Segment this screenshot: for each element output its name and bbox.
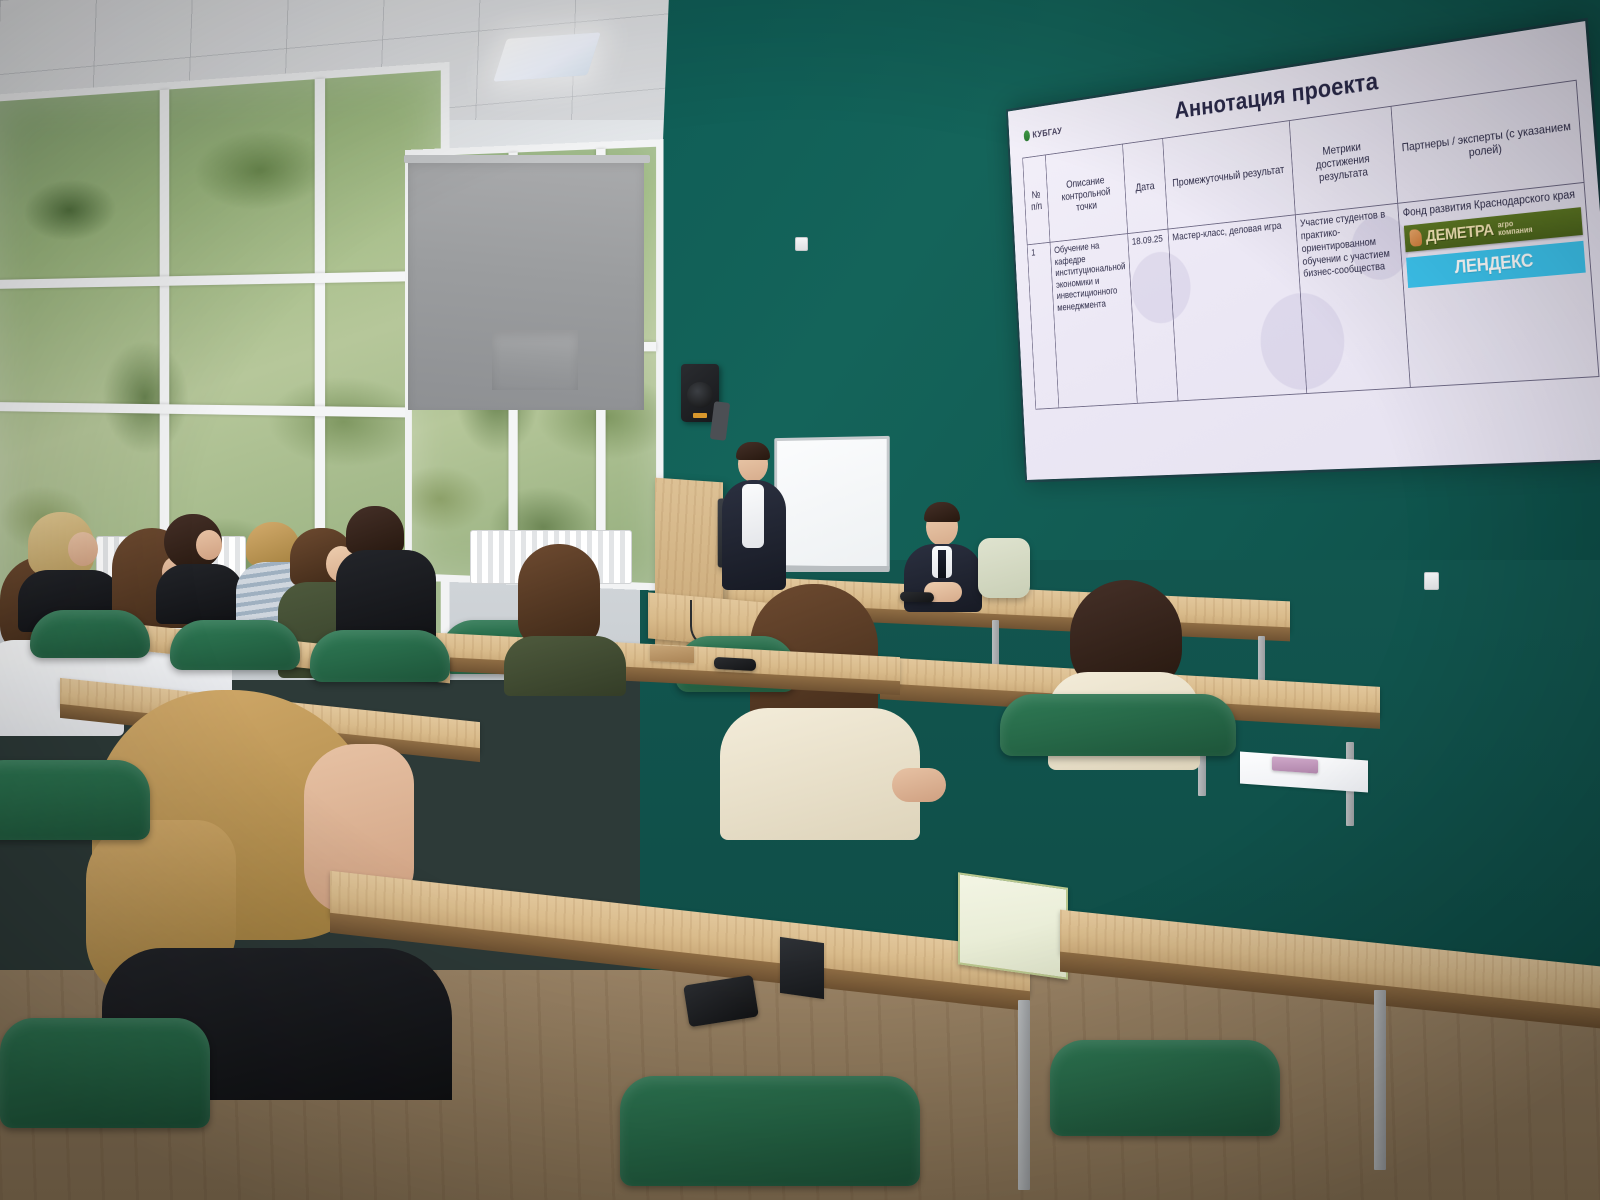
- desk-leg-front: [1374, 990, 1386, 1170]
- th-intermediate-result: Промежуточный результат: [1163, 121, 1296, 230]
- th-metrics: Метрики достижения результата: [1289, 106, 1397, 215]
- student-center-hands: [892, 768, 946, 802]
- chair-left-2: [170, 620, 300, 670]
- desk-leg-front-2: [1018, 1000, 1030, 1190]
- student-center: [716, 584, 946, 840]
- demetra-logo-text: ДЕМЕТРА: [1425, 221, 1494, 247]
- demetra-logo-mark: [1409, 229, 1422, 247]
- panelist-chair: [978, 538, 1030, 598]
- chair-bottom: [620, 1076, 920, 1186]
- lecture-hall-photo: КУБГАУ Аннотация проекта № п/п Описание …: [0, 0, 1600, 1200]
- certificate: [958, 872, 1068, 979]
- student-center-torso: [720, 708, 920, 840]
- whiteboard-tray: [780, 566, 890, 572]
- cell-metrics: Участие студентов в практико-ориентирова…: [1295, 204, 1410, 394]
- blind-rail: [404, 155, 650, 163]
- student-left-7: [336, 506, 440, 646]
- th-date: Дата: [1122, 138, 1167, 234]
- demetra-sub2: компания: [1498, 226, 1533, 238]
- desk-folded-item: [780, 937, 824, 999]
- student-left-7-hair: [346, 506, 404, 554]
- chair-right: [1000, 694, 1236, 756]
- th-description: Описание контрольной точки: [1045, 144, 1127, 243]
- chair-bottom-left: [0, 1018, 210, 1128]
- desk-phone-center: [714, 657, 756, 671]
- student-left-4: [156, 514, 248, 624]
- panelist-hair: [924, 502, 960, 522]
- student-left-4-head: [196, 530, 222, 560]
- cell-description: Обучение на кафедре институциональной эк…: [1050, 234, 1137, 408]
- student-left-2-head: [68, 532, 98, 566]
- wall-socket-3: [795, 237, 808, 251]
- ceiling-light-1: [493, 32, 601, 82]
- cell-partners: Фонд развития Краснодарского края ДЕМЕТР…: [1398, 183, 1599, 388]
- presenter-shirt: [742, 484, 764, 548]
- student-left-8-hair: [518, 544, 600, 648]
- panelist-tie: [938, 550, 946, 578]
- chair-left-1: [30, 610, 150, 658]
- presenter: [718, 440, 792, 600]
- student-left-8: [500, 544, 630, 694]
- cell-intermediate-result: Мастер-класс, деловая игра: [1168, 215, 1307, 401]
- roller-blind-far[interactable]: [492, 330, 578, 390]
- chair-foreground: [0, 760, 150, 840]
- chair-left-3: [310, 630, 450, 682]
- demetra-logo-sub: агро компания: [1497, 218, 1533, 238]
- wall-socket-2: [1424, 572, 1439, 590]
- chair-lower-right: [1050, 1040, 1280, 1136]
- presenter-hair: [736, 442, 770, 460]
- student-left-4-torso: [156, 564, 244, 624]
- student-left-8-torso: [504, 636, 626, 696]
- desk-notebook-center: [650, 645, 694, 663]
